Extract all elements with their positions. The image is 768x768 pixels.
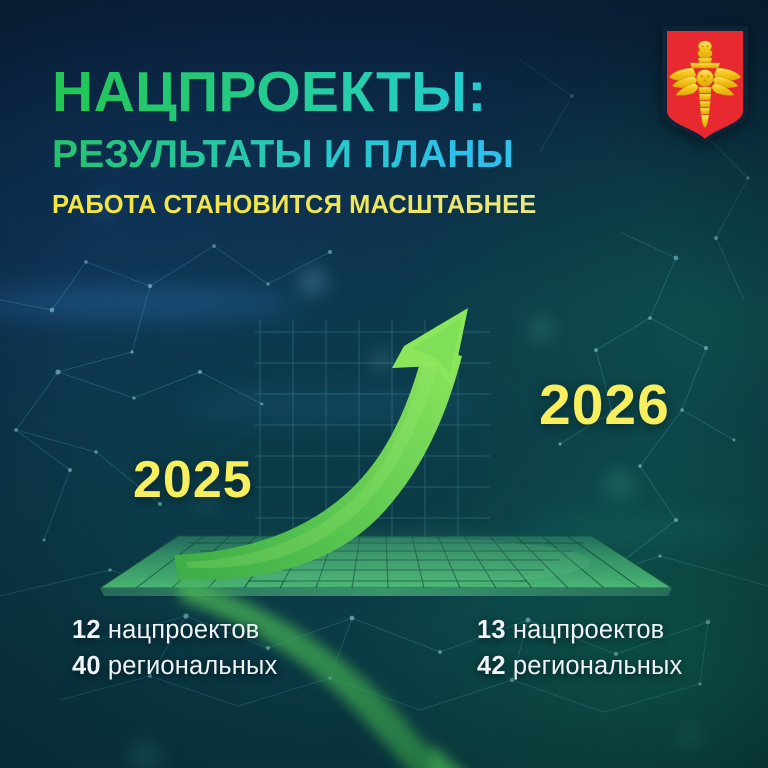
page-tagline: РАБОТА СТАНОВИТСЯ МАСШТАБНЕЕ xyxy=(52,193,652,219)
page-subtitle: РЕЗУЛЬТАТЫ И ПЛАНЫ xyxy=(52,135,652,174)
growth-chart-stage xyxy=(0,300,768,620)
stat-line-projects-2026: 13 нацпроектов xyxy=(477,612,768,648)
page-title: НАЦПРОЕКТЫ: xyxy=(52,64,652,121)
stat-label-regional-2026: региональных xyxy=(513,652,682,680)
shield-icon xyxy=(660,24,750,144)
header-block: НАЦПРОЕКТЫ: РЕЗУЛЬТАТЫ И ПЛАНЫ РАБОТА СТ… xyxy=(52,64,652,219)
stats-column-2026: 13 нацпроектов 42 региональных xyxy=(384,612,768,684)
stats-column-2025: 12 нацпроектов 40 региональных xyxy=(0,612,384,684)
stat-value-regional-2025: 40 xyxy=(72,652,101,680)
infographic-poster: НАЦПРОЕКТЫ: РЕЗУЛЬТАТЫ И ПЛАНЫ РАБОТА СТ… xyxy=(0,0,768,768)
komi-coat-of-arms-emblem xyxy=(660,24,750,144)
stat-value-projects-2025: 12 xyxy=(72,616,101,644)
growth-arrow xyxy=(0,300,768,620)
stats-row: 12 нацпроектов 40 региональных 13 нацпро… xyxy=(0,612,768,684)
stat-value-projects-2026: 13 xyxy=(477,616,506,644)
stat-line-regional-2025: 40 региональных xyxy=(72,648,384,684)
stat-label-projects-2026: нацпроектов xyxy=(513,616,664,644)
stat-label-regional-2025: региональных xyxy=(108,652,277,680)
stat-line-projects-2025: 12 нацпроектов xyxy=(72,612,384,648)
stat-label-projects-2025: нацпроектов xyxy=(108,616,259,644)
stat-value-regional-2026: 42 xyxy=(477,652,506,680)
year-label-2026: 2026 xyxy=(539,372,670,438)
year-label-2025: 2025 xyxy=(133,450,253,510)
stat-line-regional-2026: 42 региональных xyxy=(477,648,768,684)
